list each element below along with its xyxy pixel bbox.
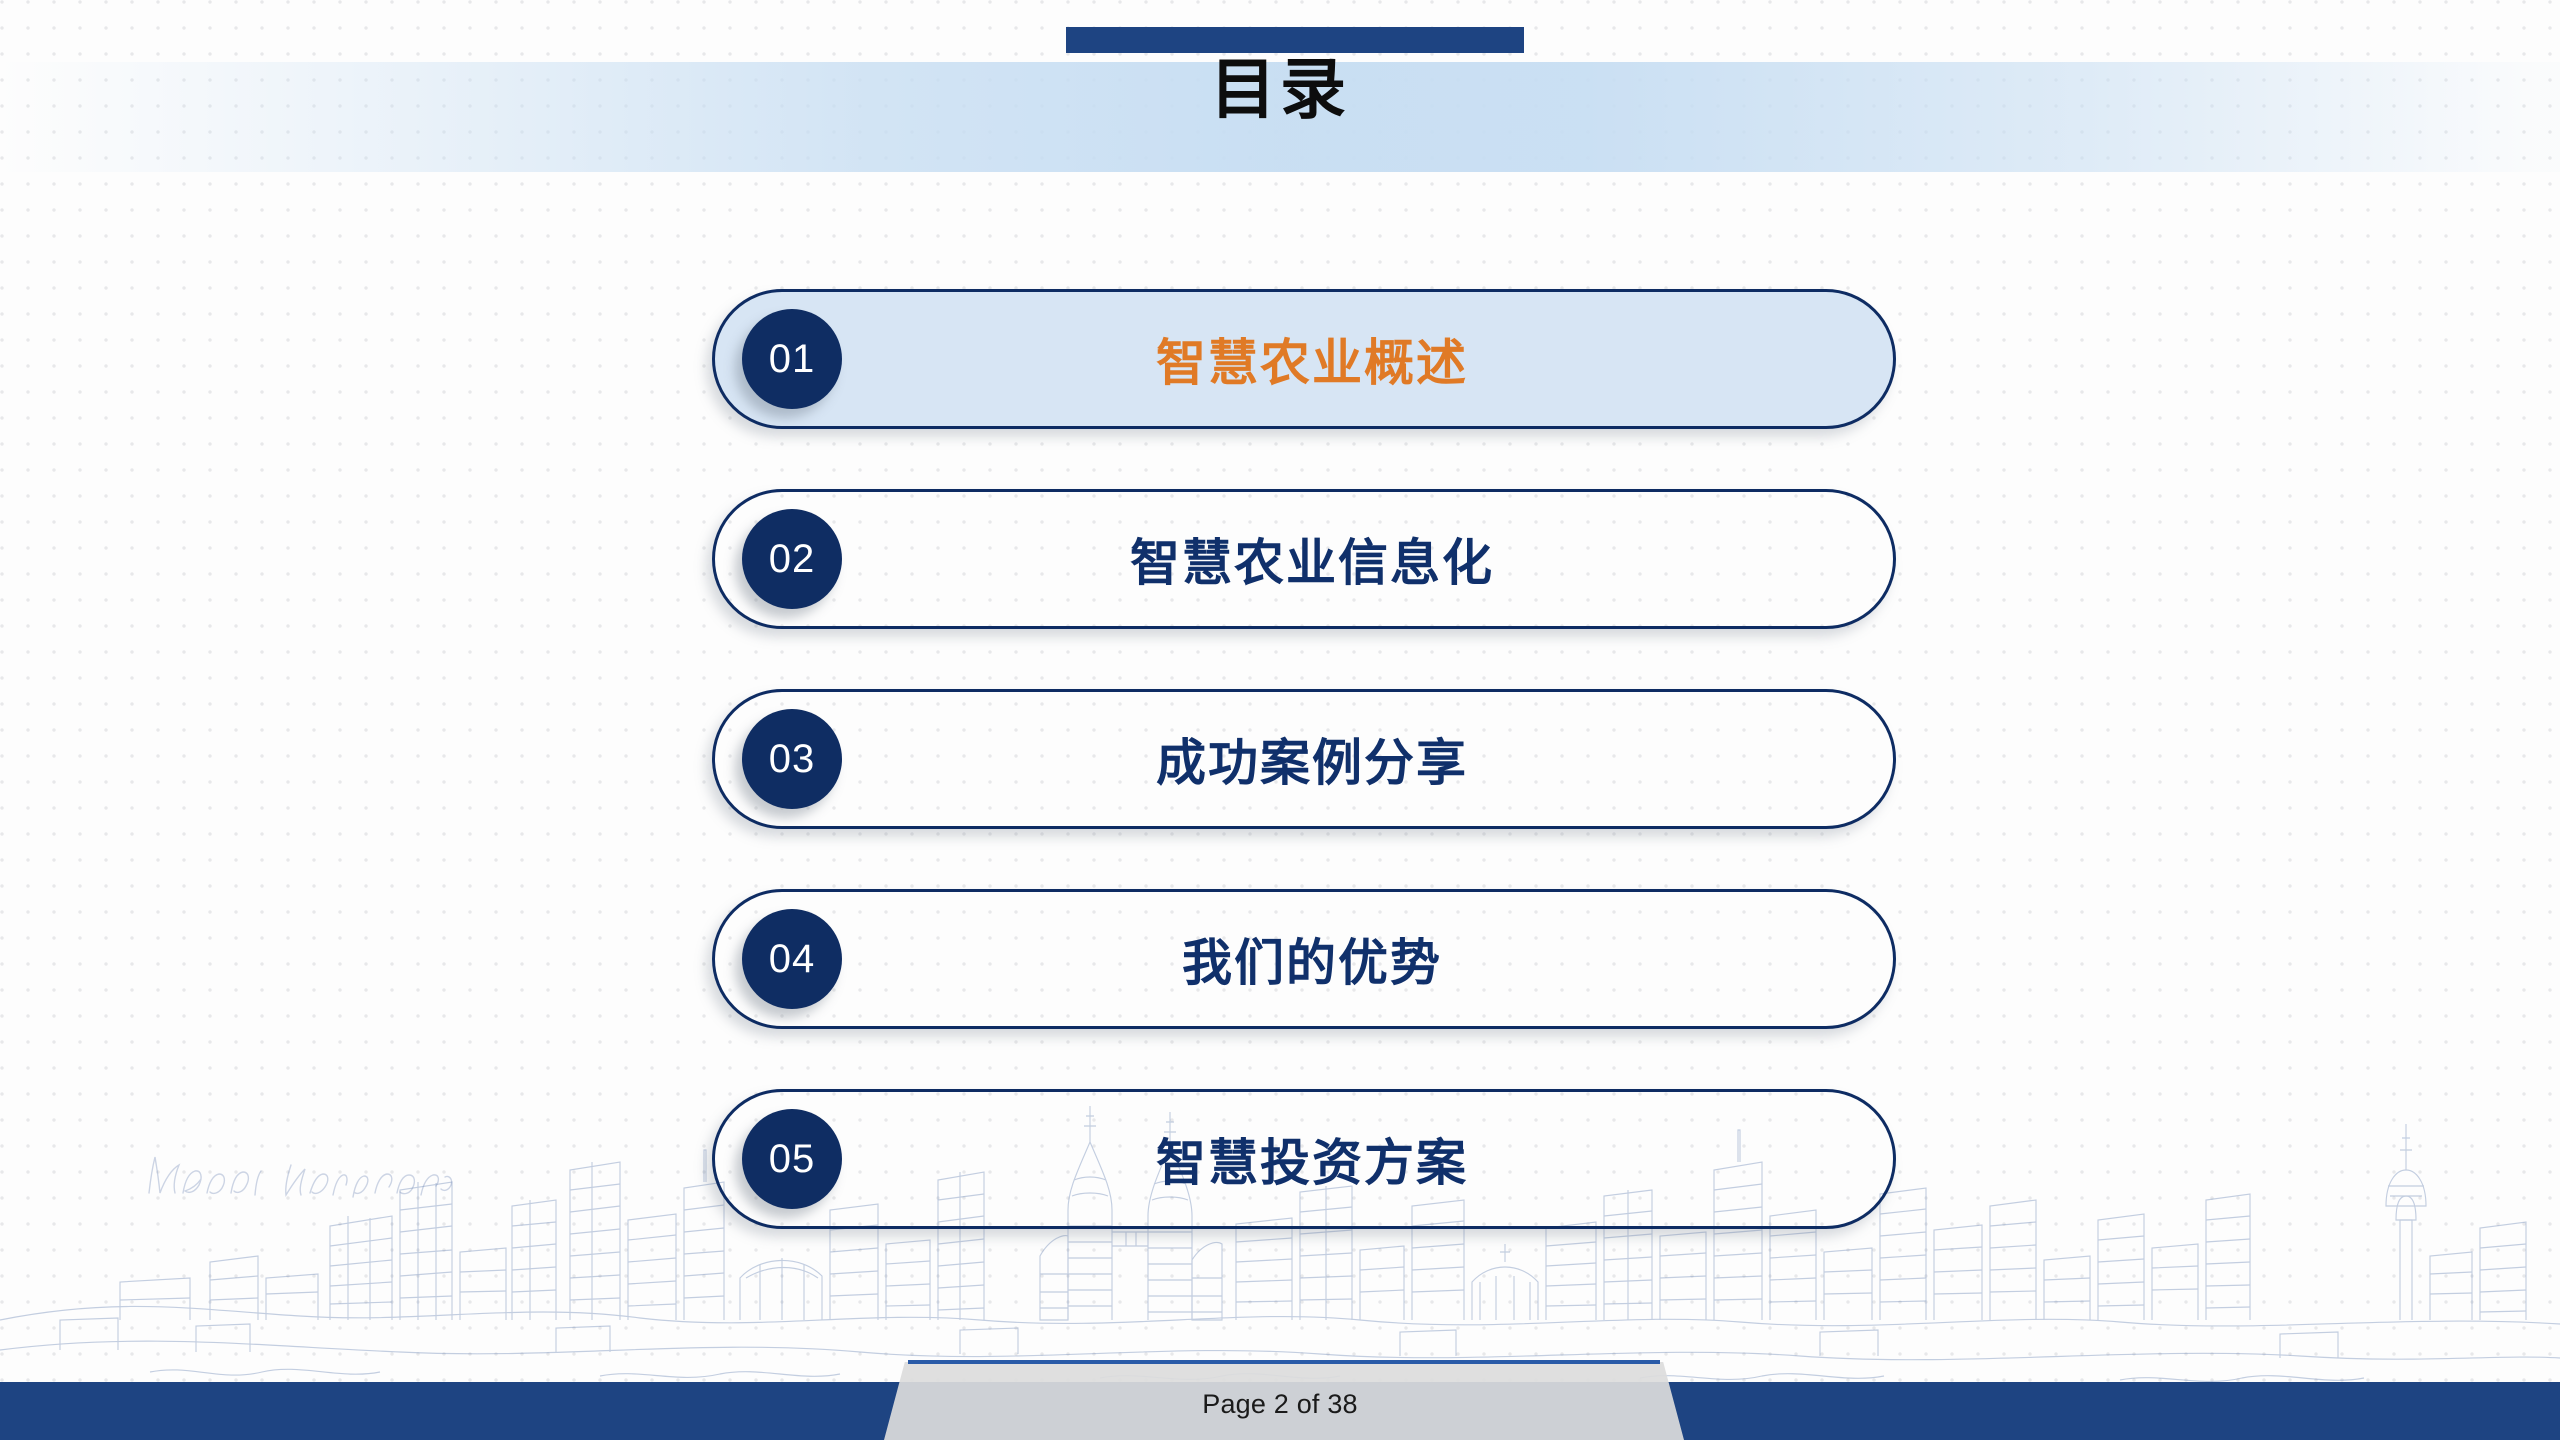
toc-number-badge-03: 03: [742, 709, 842, 809]
toc-item-04[interactable]: 我们的优势 04: [712, 889, 1896, 1029]
toc-label-05: 智慧投资方案: [712, 1089, 1896, 1229]
presentation-slide: 目录: [0, 0, 2560, 1440]
toc-number-badge-02: 02: [742, 509, 842, 609]
toc-number-badge-05: 05: [742, 1109, 842, 1209]
table-of-contents-list: 智慧农业概述 01 智慧农业信息化 02 成功案例分享 03 我们的优势 04 …: [712, 289, 1896, 1229]
toc-number-badge-04: 04: [742, 909, 842, 1009]
toc-item-03[interactable]: 成功案例分享 03: [712, 689, 1896, 829]
toc-label-01: 智慧农业概述: [712, 289, 1896, 429]
toc-item-01[interactable]: 智慧农业概述 01: [712, 289, 1896, 429]
toc-label-04: 我们的优势: [712, 889, 1896, 1029]
page-number-label: Page 2 of 38: [0, 1389, 2560, 1420]
toc-label-03: 成功案例分享: [712, 689, 1896, 829]
page-title: 目录: [0, 56, 2560, 122]
footer-plate-top-edge: [908, 1360, 1660, 1364]
toc-item-05[interactable]: 智慧投资方案 05: [712, 1089, 1896, 1229]
toc-item-02[interactable]: 智慧农业信息化 02: [712, 489, 1896, 629]
handwritten-city-watermark: [135, 1135, 465, 1225]
toc-number-badge-01: 01: [742, 309, 842, 409]
header-accent-bar: [1066, 27, 1524, 53]
toc-label-02: 智慧农业信息化: [712, 489, 1896, 629]
